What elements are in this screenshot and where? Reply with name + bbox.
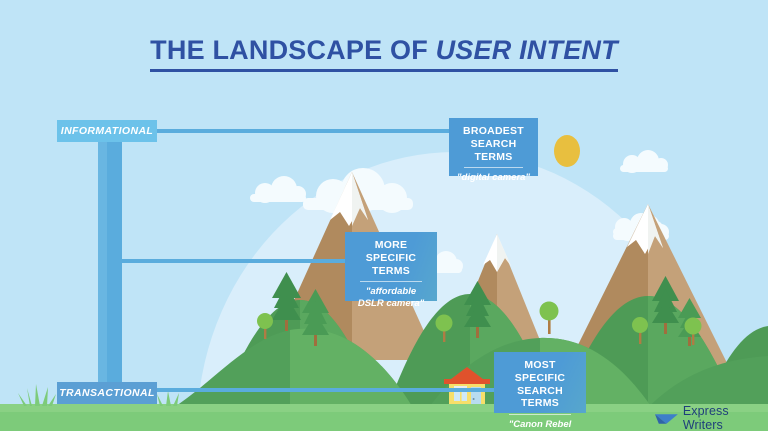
callout-most-specific-search-terms[interactable]: MOST SPECIFIC SEARCH TERMS "Canon Rebel … [494, 352, 586, 413]
callout-more-quote-line2: DSLR camera" [351, 298, 431, 310]
callout-divider [464, 167, 523, 168]
foreground-ground [0, 410, 768, 431]
brand-logo-text: Express Writers [683, 404, 768, 431]
callout-more-specific-terms[interactable]: MORE SPECIFIC TERMS "affordable DSLR cam… [345, 232, 437, 301]
callout-most-heading: MOST SPECIFIC SEARCH TERMS [500, 359, 580, 410]
callout-more-heading-line1: MORE [351, 239, 431, 252]
axis-vertical-bar-highlight [98, 131, 107, 389]
brand-logo[interactable]: Express Writers [655, 404, 768, 431]
callout-more-quote-line1: "affordable [351, 286, 431, 298]
sun-icon [554, 135, 580, 167]
arrow-right-icon [655, 411, 678, 426]
callout-divider [509, 414, 571, 415]
axis-label-transactional-text: TRANSACTIONAL [59, 387, 155, 399]
axis-label-informational[interactable]: INFORMATIONAL [57, 120, 157, 142]
infographic-canvas: THE LANDSCAPE OF USER INTENT INFORMATION… [0, 0, 768, 431]
callout-divider [360, 281, 422, 282]
callout-most-quote: "Canon Rebel Xti" [500, 419, 580, 431]
landscape-illustration [0, 0, 768, 431]
callout-broadest-heading: BROADEST SEARCH TERMS [455, 125, 532, 163]
callout-more-quote: "affordable DSLR camera" [351, 286, 431, 310]
foreground-ground-shade [0, 404, 768, 412]
callout-broadest-heading-line1: BROADEST [455, 125, 532, 138]
callout-more-heading-line2: SPECIFIC TERMS [351, 252, 431, 278]
callout-most-heading-line1: MOST SPECIFIC [500, 359, 580, 385]
callout-most-heading-line2: SEARCH TERMS [500, 385, 580, 411]
callout-more-heading: MORE SPECIFIC TERMS [351, 239, 431, 277]
callout-broadest-search-terms[interactable]: BROADEST SEARCH TERMS "digital camera" [449, 118, 538, 176]
callout-broadest-quote: "digital camera" [455, 172, 532, 184]
axis-label-transactional[interactable]: TRANSACTIONAL [57, 382, 157, 404]
callout-broadest-heading-line2: SEARCH TERMS [455, 138, 532, 164]
axis-label-informational-text: INFORMATIONAL [61, 125, 154, 137]
